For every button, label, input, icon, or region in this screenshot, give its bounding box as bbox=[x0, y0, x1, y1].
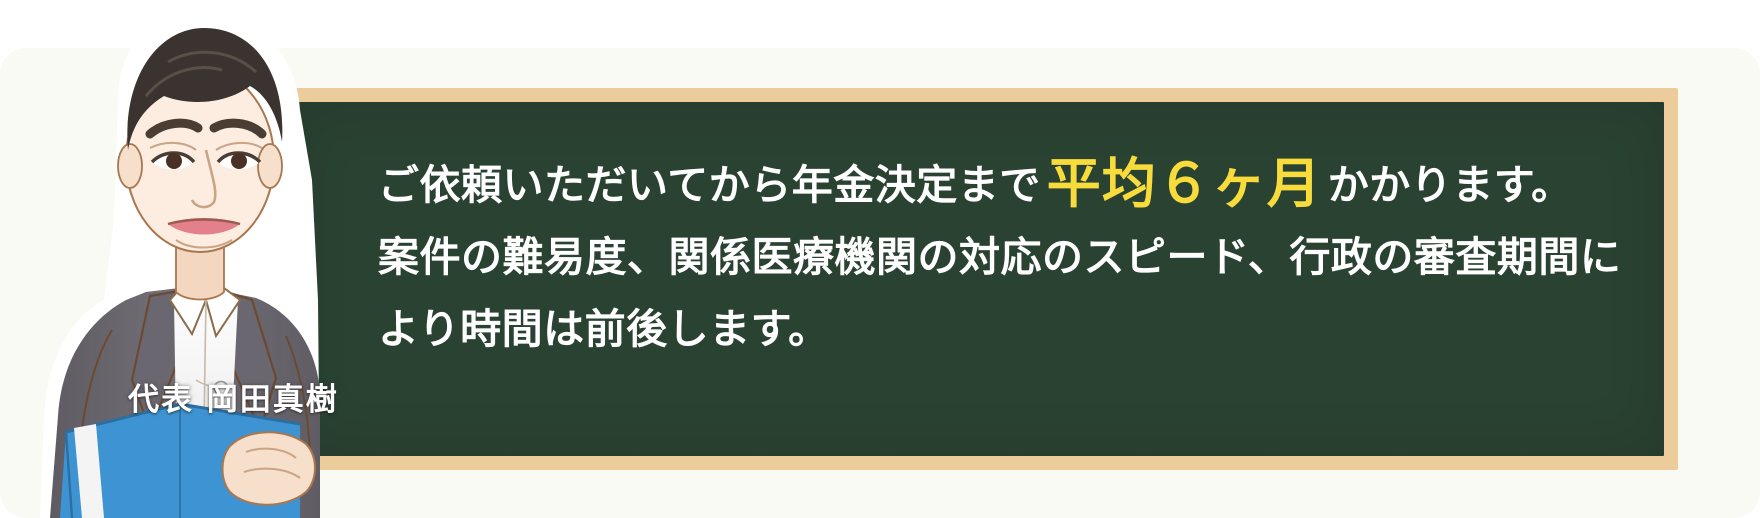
blackboard-line-1: ご依頼いただいてから年金決定まで平均６ヶ月かかります。 bbox=[378, 148, 1634, 221]
line-1-before: ご依頼いただいてから年金決定まで bbox=[378, 161, 1041, 209]
representative-illustration: 代表 岡田真樹 bbox=[0, 0, 320, 518]
blackboard-text: ご依頼いただいてから年金決定まで平均６ヶ月かかります。 案件の難易度、関係医療機… bbox=[378, 148, 1634, 365]
blackboard-frame: ご依頼いただいてから年金決定まで平均６ヶ月かかります。 案件の難易度、関係医療機… bbox=[278, 88, 1678, 470]
line-3-before: より時間は前後します。 bbox=[378, 305, 830, 353]
blackboard-surface: ご依頼いただいてから年金決定まで平均６ヶ月かかります。 案件の難易度、関係医療機… bbox=[292, 102, 1664, 456]
line-2-before: 案件の難易度、関係医療機関の対応のスピード、行政の審査期間に bbox=[378, 233, 1621, 281]
line-1-highlight: 平均６ヶ月 bbox=[1041, 152, 1328, 215]
hand bbox=[223, 432, 316, 505]
representative-name-tag: 代表 岡田真樹 bbox=[128, 374, 358, 419]
blackboard-line-2: 案件の難易度、関係医療機関の対応のスピード、行政の審査期間に bbox=[378, 221, 1634, 293]
line-1-after: かかります。 bbox=[1328, 161, 1573, 209]
blackboard-line-3: より時間は前後します。 bbox=[378, 293, 1634, 365]
promo-banner: ご依頼いただいてから年金決定まで平均６ヶ月かかります。 案件の難易度、関係医療機… bbox=[0, 0, 1760, 518]
